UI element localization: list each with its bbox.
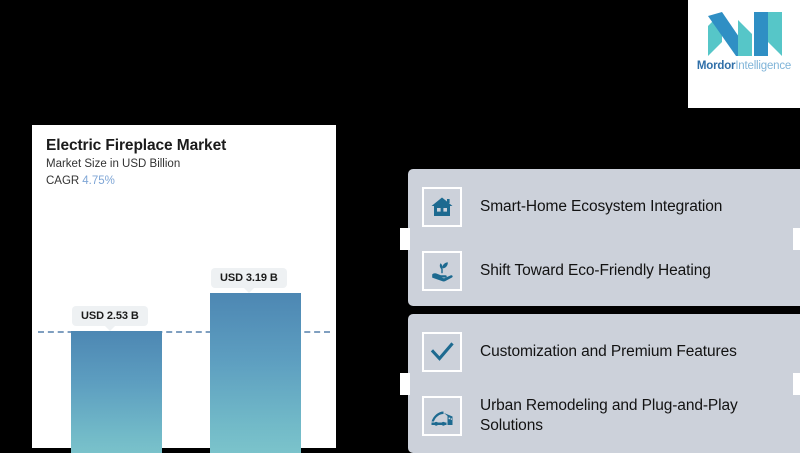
insight-item-eco-heating[interactable]: Shift Toward Eco-Friendly Heating: [422, 247, 800, 295]
checkmark-icon: [422, 332, 462, 372]
panel-1-left-tab-stub: [400, 228, 410, 250]
hand-plant-icon: [422, 251, 462, 291]
insight-item-smart-home[interactable]: Smart-Home Ecosystem Integration: [422, 183, 800, 231]
chart-subtitle: Market Size in USD Billion: [46, 158, 180, 170]
cagr-label: CAGR: [46, 175, 79, 187]
insight-label: Shift Toward Eco-Friendly Heating: [480, 261, 711, 281]
chart-card: Electric Fireplace Market Market Size in…: [32, 125, 336, 448]
insight-item-urban-remodeling[interactable]: Urban Remodeling and Plug-and-Play Solut…: [422, 392, 800, 440]
brand-name-bold: Mordor: [697, 60, 735, 72]
house-icon: [422, 187, 462, 227]
cagr-value: 4.75%: [82, 175, 115, 187]
panel-2-right-tab-stub: [793, 373, 800, 395]
bar-2030: [210, 293, 301, 453]
brand-name-light: Intelligence: [735, 60, 791, 72]
mordor-intelligence-logo-icon: [706, 12, 782, 56]
panel-1-right-tab-stub: [793, 228, 800, 250]
bar-chart-plot: USD 2.53 B USD 3.19 B 2025 2030 Source :…: [32, 197, 336, 407]
insight-label: Customization and Premium Features: [480, 342, 737, 362]
insights-panel-2: Customization and Premium Features Urban…: [408, 314, 800, 453]
insights-panel-1: Smart-Home Ecosystem Integration Shift T…: [408, 169, 800, 306]
bar-2025: [71, 331, 162, 453]
insight-label: Urban Remodeling and Plug-and-Play Solut…: [480, 396, 800, 436]
value-label-2025: USD 2.53 B: [72, 306, 148, 326]
urban-remodeling-icon: [422, 396, 462, 436]
brand-name: MordorIntelligence: [695, 60, 793, 72]
insight-item-customization[interactable]: Customization and Premium Features: [422, 328, 800, 376]
panel-2-left-tab-stub: [400, 373, 410, 395]
insight-label: Smart-Home Ecosystem Integration: [480, 197, 722, 217]
value-label-2030: USD 3.19 B: [211, 268, 287, 288]
chart-title: Electric Fireplace Market: [46, 137, 226, 155]
chart-cagr: CAGR4.75%: [46, 175, 115, 187]
brand-logo-card: MordorIntelligence: [688, 0, 800, 108]
screenshot-root: MordorIntelligence Electric Fireplace Ma…: [0, 0, 800, 453]
